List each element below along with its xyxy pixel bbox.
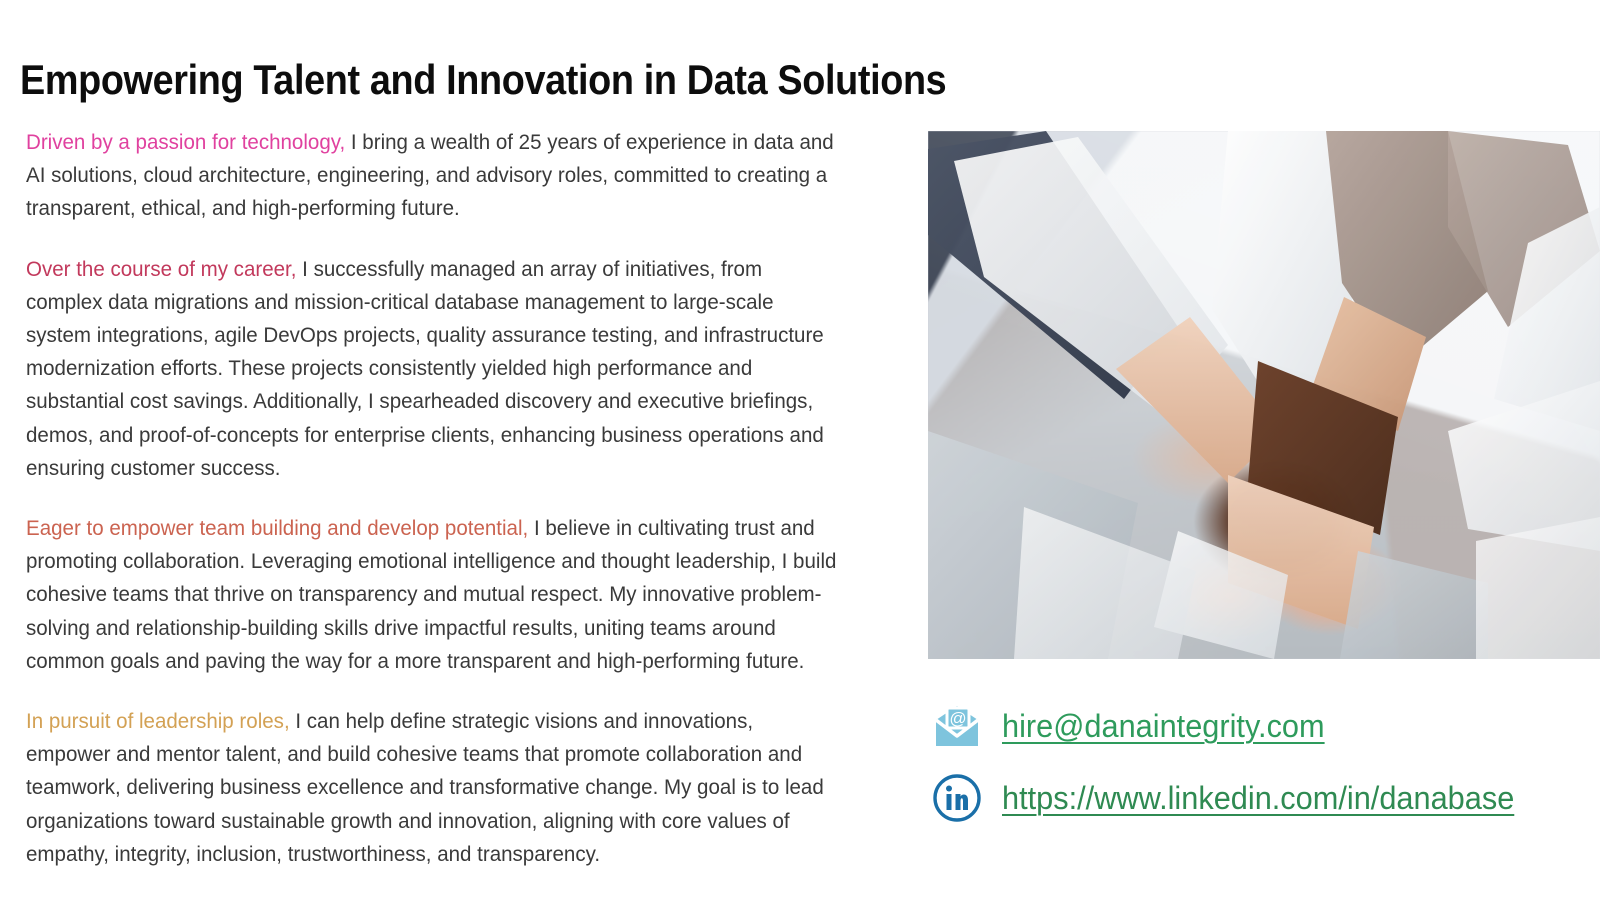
bio-paragraph: Over the course of my career, I successf… [26, 253, 843, 485]
paragraph-body: I successfully managed an array of initi… [26, 257, 824, 480]
paragraph-lead-in: Over the course of my career, [26, 257, 296, 281]
email-envelope-icon: @ [928, 697, 986, 755]
paragraph-lead-in: In pursuit of leadership roles, [26, 709, 290, 733]
page-title: Empowering Talent and Innovation in Data… [20, 52, 1010, 108]
bio-paragraph: In pursuit of leadership roles, I can he… [26, 705, 843, 871]
linkedin-link[interactable]: https://www.linkedin.com/in/danabase [1002, 782, 1514, 814]
linkedin-icon [928, 769, 986, 827]
svg-text:@: @ [949, 709, 966, 728]
contact-links: @ hire@danaintegrity.com https://www.lin… [928, 690, 1600, 834]
email-link[interactable]: hire@danaintegrity.com [1002, 710, 1325, 742]
bio-paragraph: Driven by a passion for technology, I br… [26, 126, 843, 226]
slide-root: Empowering Talent and Innovation in Data… [0, 0, 1600, 900]
contact-row-linkedin[interactable]: https://www.linkedin.com/in/danabase [928, 762, 1600, 834]
team-hands-photo-overlay [928, 131, 1600, 659]
bio-paragraph: Eager to empower team building and devel… [26, 512, 843, 678]
team-hands-photo [928, 131, 1600, 659]
paragraph-lead-in: Driven by a passion for technology, [26, 130, 345, 154]
contact-row-email[interactable]: @ hire@danaintegrity.com [928, 690, 1600, 762]
paragraph-lead-in: Eager to empower team building and devel… [26, 516, 528, 540]
bio-text-column: Driven by a passion for technology, I br… [26, 126, 881, 871]
